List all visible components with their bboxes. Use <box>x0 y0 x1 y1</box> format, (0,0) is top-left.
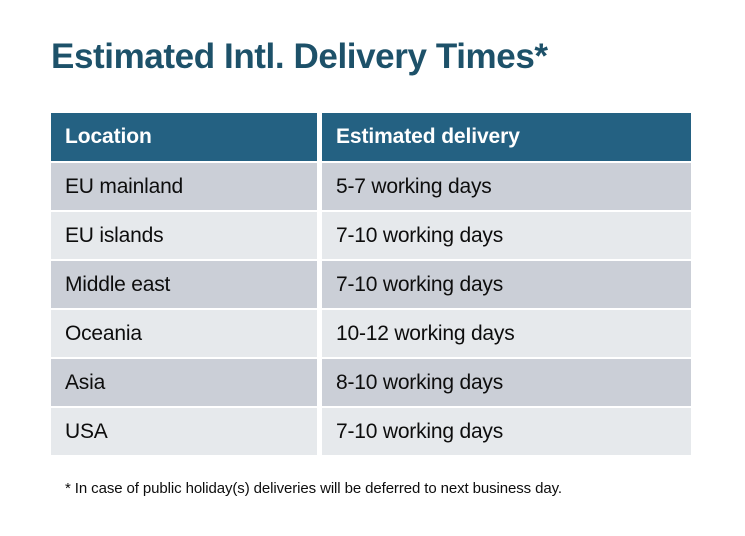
cell-estimated-delivery: 7-10 working days <box>322 261 691 308</box>
table-header-row: Location Estimated delivery <box>51 113 691 161</box>
column-header-location: Location <box>51 113 317 161</box>
table-row: Oceania 10-12 working days <box>51 310 691 357</box>
cell-location: Middle east <box>51 261 317 308</box>
table-row: USA 7-10 working days <box>51 408 691 455</box>
cell-location: USA <box>51 408 317 455</box>
table-footnote: * In case of public holiday(s) deliverie… <box>65 480 562 497</box>
page-title: Estimated Intl. Delivery Times* <box>51 38 548 77</box>
cell-estimated-delivery: 7-10 working days <box>322 408 691 455</box>
cell-estimated-delivery: 10-12 working days <box>322 310 691 357</box>
delivery-times-table: Location Estimated delivery EU mainland … <box>51 113 691 457</box>
cell-estimated-delivery: 5-7 working days <box>322 163 691 210</box>
table-row: Middle east 7-10 working days <box>51 261 691 308</box>
table-row: EU islands 7-10 working days <box>51 212 691 259</box>
cell-estimated-delivery: 8-10 working days <box>322 359 691 406</box>
table-row: EU mainland 5-7 working days <box>51 163 691 210</box>
column-header-estimated-delivery: Estimated delivery <box>322 113 691 161</box>
cell-location: Oceania <box>51 310 317 357</box>
table-row: Asia 8-10 working days <box>51 359 691 406</box>
cell-location: EU mainland <box>51 163 317 210</box>
cell-location: EU islands <box>51 212 317 259</box>
cell-location: Asia <box>51 359 317 406</box>
cell-estimated-delivery: 7-10 working days <box>322 212 691 259</box>
